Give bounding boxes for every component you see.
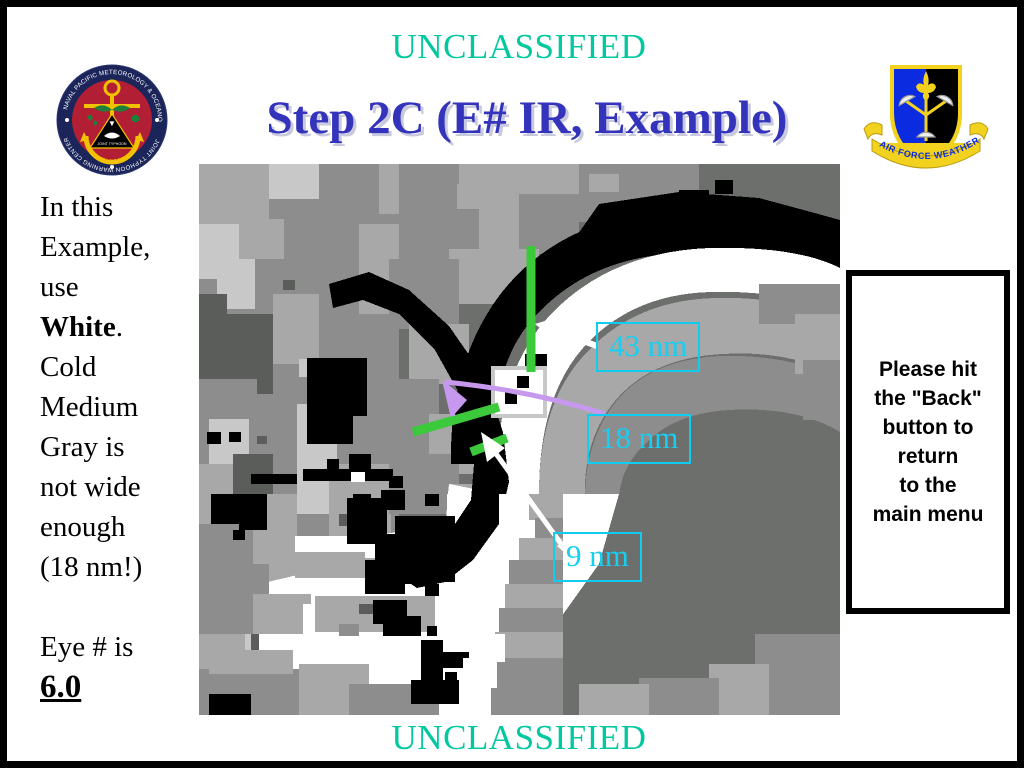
explanation-line-10: (18 nm!) <box>40 551 142 583</box>
explanation-emphasis-white: White <box>40 311 116 343</box>
explanation-line-1: In this <box>40 191 113 223</box>
back-line-1: Please hit <box>879 358 977 381</box>
explanation-line-3: use <box>40 271 79 303</box>
measurement-label-18nm: 18 nm <box>587 414 691 464</box>
back-line-6: main menu <box>873 503 984 526</box>
explanation-line-8: not wide <box>40 471 141 503</box>
slide-canvas: UNCLASSIFIED Step 2C (E# IR, Example) NA… <box>0 0 1024 768</box>
svg-text:JOINT TYPHOON: JOINT TYPHOON <box>97 142 126 146</box>
pointer-18nm <box>445 382 605 416</box>
air-force-weather-agency-logo: AIR FORCE WEATHER AGENCY <box>852 55 1000 179</box>
measurement-annotation-overlay <box>199 164 840 715</box>
explanation-line-6: Medium <box>40 391 138 423</box>
measurement-label-9nm: 9 nm <box>553 532 642 582</box>
navy-meteorology-seal-logo: NAVAL PACIFIC METEOROLOGY & OCEANOGRAPHY… <box>54 62 170 178</box>
back-line-4: return <box>898 445 959 468</box>
explanation-line-2: Example, <box>40 231 150 263</box>
svg-text:▼: ▼ <box>108 119 116 128</box>
explanation-line-7: Gray is <box>40 431 125 463</box>
explanation-line-9: enough <box>40 511 125 543</box>
back-line-3: button to <box>883 416 974 439</box>
explanation-line-4-rest: . <box>116 311 123 343</box>
back-line-2: the "Back" <box>874 387 981 410</box>
back-line-5: to the <box>899 474 956 497</box>
explanation-line-5: Cold <box>40 351 96 383</box>
arrow-43nm <box>535 316 597 346</box>
back-instruction-text: Please hit the "Back" button to return t… <box>870 355 987 529</box>
eye-number-label: Eye # is <box>40 627 192 667</box>
back-button-instruction-box: Please hit the "Back" button to return t… <box>846 270 1010 614</box>
explanation-text: In this Example, use White. Cold Medium … <box>40 187 192 707</box>
measurement-label-43nm: 43 nm <box>596 322 700 372</box>
classification-banner-bottom: UNCLASSIFIED <box>7 720 1024 755</box>
page-title: Step 2C (E# IR, Example) <box>157 95 897 142</box>
eye-number-value: 6.0 <box>40 667 100 707</box>
infrared-satellite-image: .g-white{fill:#ffffff} .g-lt{fill:#c8c8c… <box>199 164 840 715</box>
svg-text:NAVY: NAVY <box>105 156 119 162</box>
